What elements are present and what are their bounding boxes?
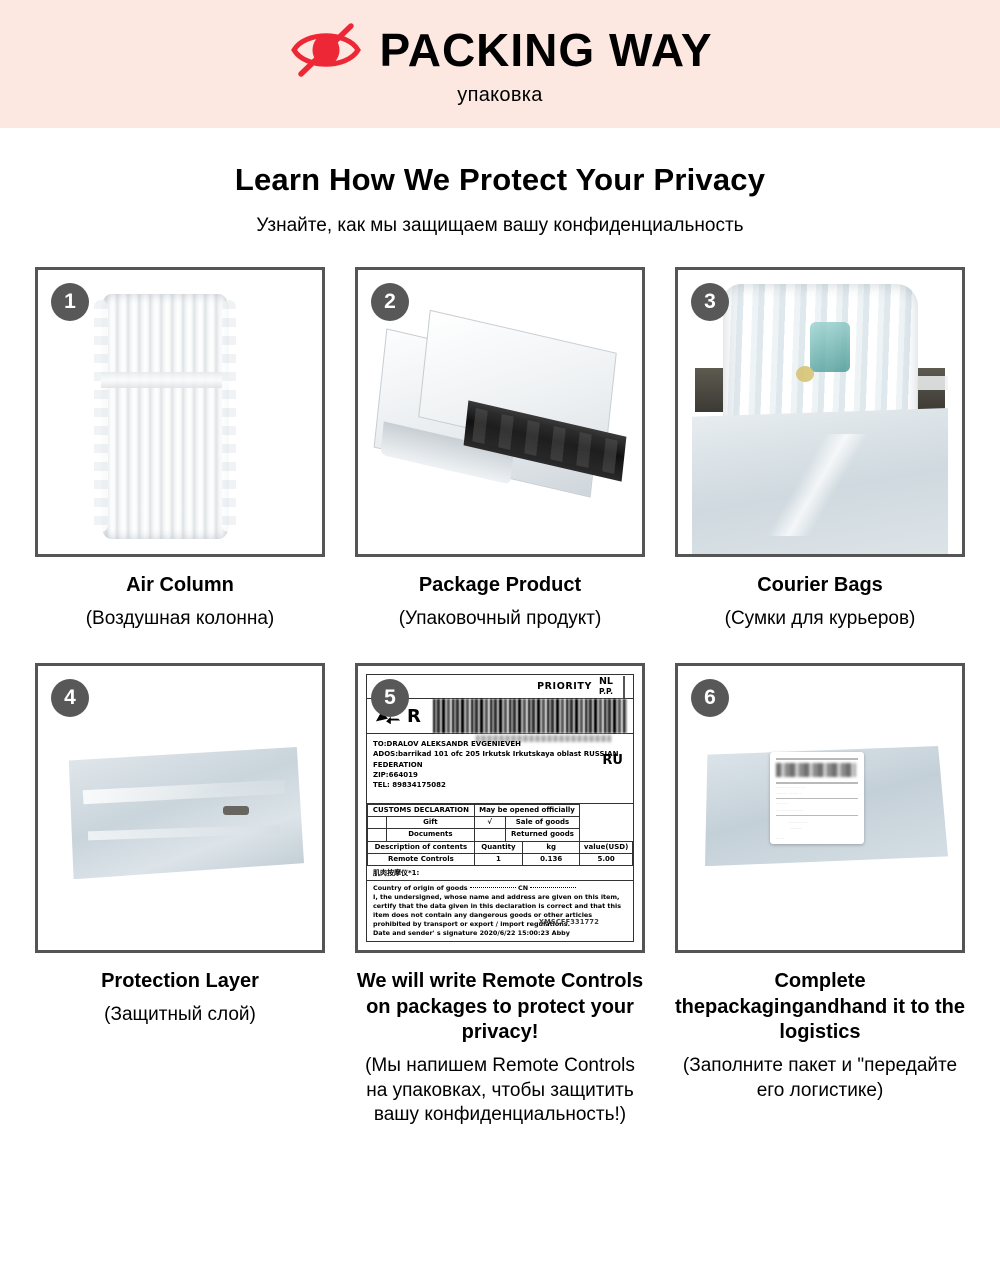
step-card-6: 6 .......... ............ .... ....... .… — [675, 663, 965, 1128]
col-description: Description of contents — [368, 841, 475, 853]
documents-label: Documents — [387, 829, 475, 841]
label-country-code: NL — [599, 676, 613, 687]
step-caption-en-3: Courier Bags — [675, 573, 965, 599]
customs-title: CUSTOMS DECLARATION — [368, 805, 475, 817]
step-caption-ru-4: (Защитный слой) — [35, 1003, 325, 1028]
step-image-5: 5 PRIORITY NL P.P. — [355, 663, 645, 953]
col-quantity: Quantity — [474, 841, 522, 853]
step-image-2: 2 — [355, 267, 645, 557]
country-origin-value: CN — [518, 884, 528, 892]
step-caption-ru-5: (Мы напишем Remote Controls на упаковках… — [355, 1054, 645, 1128]
eye-off-icon — [287, 22, 365, 78]
page-header: PACKING WAY упаковка — [0, 0, 1000, 128]
step-caption-en-1: Air Column — [35, 573, 325, 599]
table-row: Remote Controls 1 0.136 5.00 — [368, 853, 633, 865]
returned-goods-label: Returned goods — [505, 829, 579, 841]
step-caption-en-5: We will write Remote Controls on package… — [355, 969, 645, 1046]
barcode — [433, 699, 627, 733]
gift-box — [368, 817, 387, 829]
brand-row: PACKING WAY — [287, 22, 712, 78]
country-origin-dotline — [470, 887, 516, 888]
step-card-4: 4 Protection Layer (Защитный слой) — [35, 663, 325, 1128]
table-row: CUSTOMS DECLARATION May be opened offici… — [368, 805, 633, 817]
page-subtitle: Узнайте, как мы защищаем вашу конфиденци… — [0, 215, 1000, 237]
address-to: TO:DRALOV ALEKSANDR EVGENIEVEH — [373, 739, 627, 749]
returned-box — [474, 829, 505, 841]
item-description: Remote Controls — [368, 853, 475, 865]
step-caption-ru-1: (Воздушная колонна) — [35, 607, 325, 632]
label-address-block: TO:DRALOV ALEKSANDR EVGENIEVEH ADOS:barr… — [367, 734, 633, 804]
col-kg: kg — [523, 841, 580, 853]
gift-label: Gift — [387, 817, 475, 829]
step-card-2: 2 Package Product (Упаковочный продукт) — [355, 267, 645, 631]
address-line-1: ADOS:barrikad 101 ofc 205 Irkutsk Irkuts… — [373, 749, 627, 759]
step-number-badge-2: 2 — [371, 283, 409, 321]
address-line-2: FEDERATION — [373, 760, 627, 770]
label-vertical-bar — [623, 676, 625, 698]
label-priority-text: PRIORITY — [537, 681, 592, 692]
step-image-3: 3 — [675, 267, 965, 557]
step-card-1: 1 Air Column (Воздушная колонна) — [35, 267, 325, 631]
recycle-letter: R — [407, 706, 421, 727]
step-card-5: 5 PRIORITY NL P.P. — [355, 663, 645, 1128]
step-number-badge-1: 1 — [51, 283, 89, 321]
page-title: Learn How We Protect Your Privacy — [0, 162, 1000, 198]
step-card-3: 3 Courier Bags (Сумки для курьеров) — [675, 267, 965, 631]
step-image-4: 4 — [35, 663, 325, 953]
package-label: .......... ............ .... ....... ...… — [770, 752, 864, 844]
brand-title: PACKING WAY — [379, 27, 712, 73]
step-caption-en-2: Package Product — [355, 573, 645, 599]
customs-declaration-text: Country of origin of goods CN I, the und… — [367, 881, 633, 942]
label-country-block: NL P.P. — [599, 677, 613, 696]
shipping-label: PRIORITY NL P.P. R — [366, 674, 634, 942]
step-caption-en-6: Complete thepackagingandhand it to the l… — [675, 969, 965, 1046]
signature-line: Date and sender' s signature 2020/6/22 1… — [373, 929, 627, 938]
destination-country-code: RU — [602, 752, 623, 771]
country-origin-label: Country of origin of goods — [373, 884, 468, 892]
customs-declaration-table: CUSTOMS DECLARATION May be opened offici… — [367, 804, 633, 865]
step-caption-en-4: Protection Layer — [35, 969, 325, 995]
steps-grid-row-2: 4 Protection Layer (Защитный слой) 5 PRI… — [35, 663, 965, 1128]
gift-check: √ — [474, 817, 505, 829]
brand-subtitle: упаковка — [457, 84, 542, 107]
step-caption-ru-3: (Сумки для курьеров) — [675, 607, 965, 632]
col-value: value(USD) — [580, 841, 633, 853]
item-quantity: 1 — [474, 853, 522, 865]
customs-chinese-note: 肌肉按摩仪*1: — [367, 866, 633, 881]
steps-grid-row-1: 1 Air Column (Воздушная колонна) 2 Packa… — [35, 267, 965, 631]
table-row: Documents Returned goods — [368, 829, 633, 841]
label-postage-paid: P.P. — [599, 688, 613, 696]
address-zip: ZIP:664019 — [373, 770, 627, 780]
table-row: Description of contents Quantity kg valu… — [368, 841, 633, 853]
address-tel: TEL: 89834175082 — [373, 780, 627, 790]
step-caption-ru-2: (Упаковочный продукт) — [355, 607, 645, 632]
item-kg: 0.136 — [523, 853, 580, 865]
sale-of-goods-label: Sale of goods — [505, 817, 579, 829]
step-number-badge-3: 3 — [691, 283, 729, 321]
documents-box — [368, 829, 387, 841]
step-image-6: 6 .......... ............ .... ....... .… — [675, 663, 965, 953]
table-row: Gift √ Sale of goods — [368, 817, 633, 829]
customs-may-be-opened: May be opened officially — [474, 805, 579, 817]
country-origin-dotline-2 — [530, 887, 576, 888]
step-caption-ru-6: (Заполните пакет и "передайте его логист… — [675, 1054, 965, 1103]
step-image-1: 1 — [35, 267, 325, 557]
item-value: 5.00 — [580, 853, 633, 865]
overprint-code: XMSCFF331772 — [539, 918, 599, 927]
